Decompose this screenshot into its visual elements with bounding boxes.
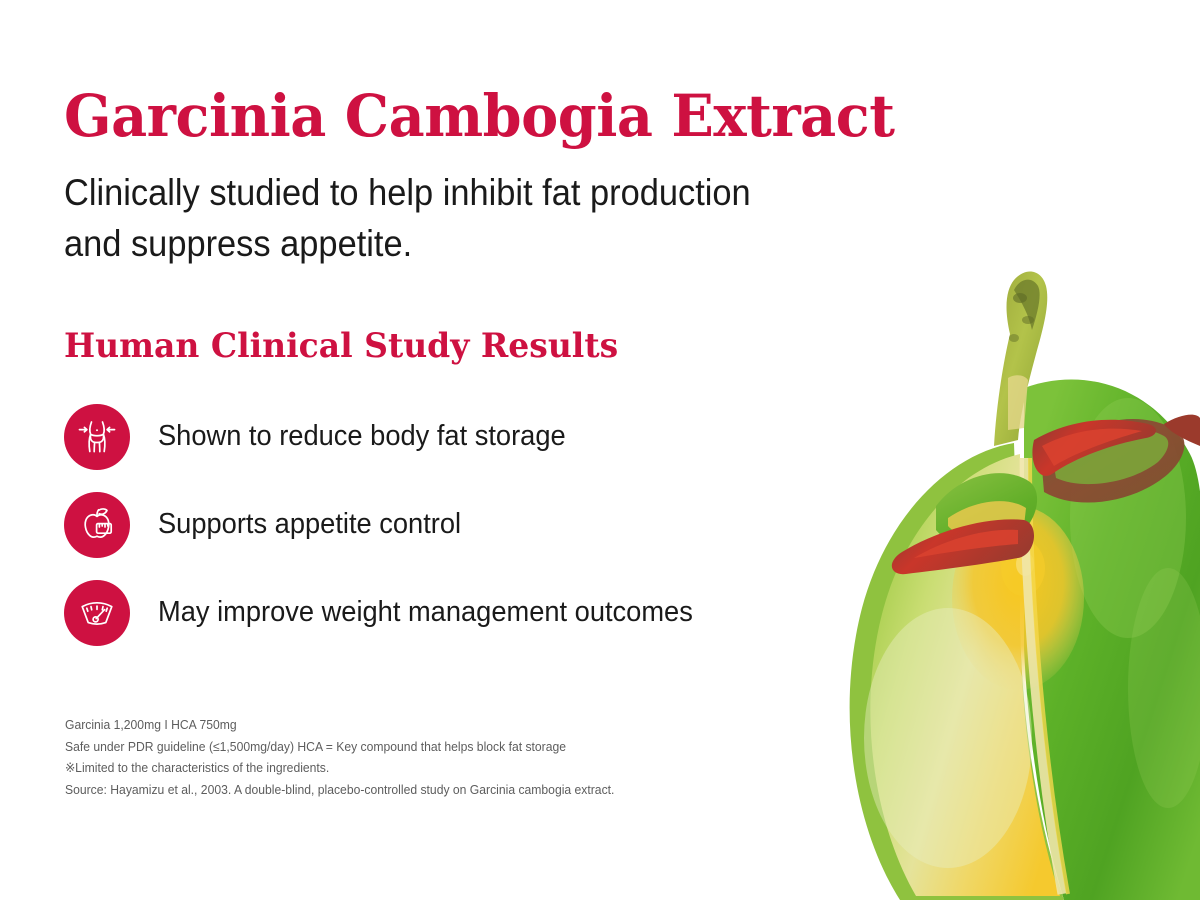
benefit-item: Shown to reduce body fat storage <box>64 404 924 470</box>
fineprint-line-limitation: ※Limited to the characteristics of the i… <box>65 757 614 779</box>
slim-waist-icon <box>64 404 130 470</box>
benefit-label: Shown to reduce body fat storage <box>158 421 566 453</box>
weight-scale-gauge-icon <box>64 580 130 646</box>
benefit-label: Supports appetite control <box>158 509 461 541</box>
benefits-list: Shown to reduce body fat storage <box>64 404 924 668</box>
text-content-column: Garcinia Cambogia Extract Clinically stu… <box>64 0 934 900</box>
fineprint-disclaimer: Garcinia 1,200mg I HCA 750mg Safe under … <box>65 714 614 800</box>
benefit-label: May improve weight management outcomes <box>158 597 693 629</box>
subtitle-line-1: Clinically studied to help inhibit fat p… <box>64 167 882 218</box>
product-infographic-canvas: Garcinia Cambogia Extract Clinically stu… <box>0 0 1200 900</box>
apple-measuring-tape-icon <box>64 492 130 558</box>
section-heading: Human Clinical Study Results <box>64 326 618 366</box>
benefit-item: Supports appetite control <box>64 492 924 558</box>
subtitle-line-2: and suppress appetite. <box>64 218 882 269</box>
benefit-item: May improve weight management outcomes <box>64 580 924 646</box>
page-title: Garcinia Cambogia Extract <box>64 86 894 147</box>
fineprint-line-dosage: Garcinia 1,200mg I HCA 750mg <box>65 714 614 736</box>
fineprint-line-guideline: Safe under PDR guideline (≤1,500mg/day) … <box>65 736 614 758</box>
fineprint-line-source: Source: Hayamizu et al., 2003. A double-… <box>65 779 614 801</box>
subtitle: Clinically studied to help inhibit fat p… <box>64 167 882 269</box>
